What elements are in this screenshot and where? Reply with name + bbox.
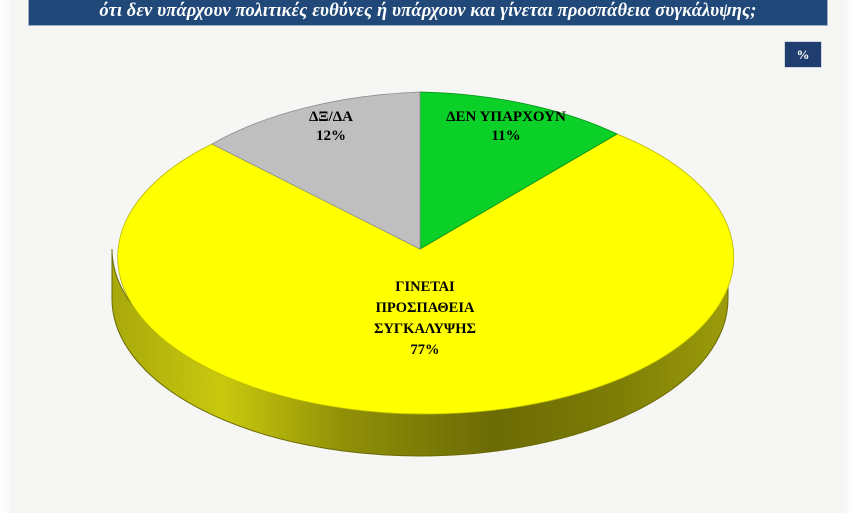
pie-chart: ΔΞ/ΔΑ 12% ΔΕΝ ΥΠΑΡΧΟΥΝ 11% ΓΙΝΕΤΑΙ ΠΡΟΣΠ…	[0, 0, 855, 513]
percent-unit-badge: %	[784, 41, 822, 68]
pie-chart-svg	[0, 0, 855, 513]
slide-title-bar: ότι δεν υπάρχουν πολιτικές ευθύνες ή υπά…	[28, 0, 828, 26]
page-title: ότι δεν υπάρχουν πολιτικές ευθύνες ή υπά…	[99, 1, 756, 22]
percent-unit-label: %	[797, 47, 810, 63]
slide-canvas: ότι δεν υπάρχουν πολιτικές ευθύνες ή υπά…	[0, 0, 855, 513]
